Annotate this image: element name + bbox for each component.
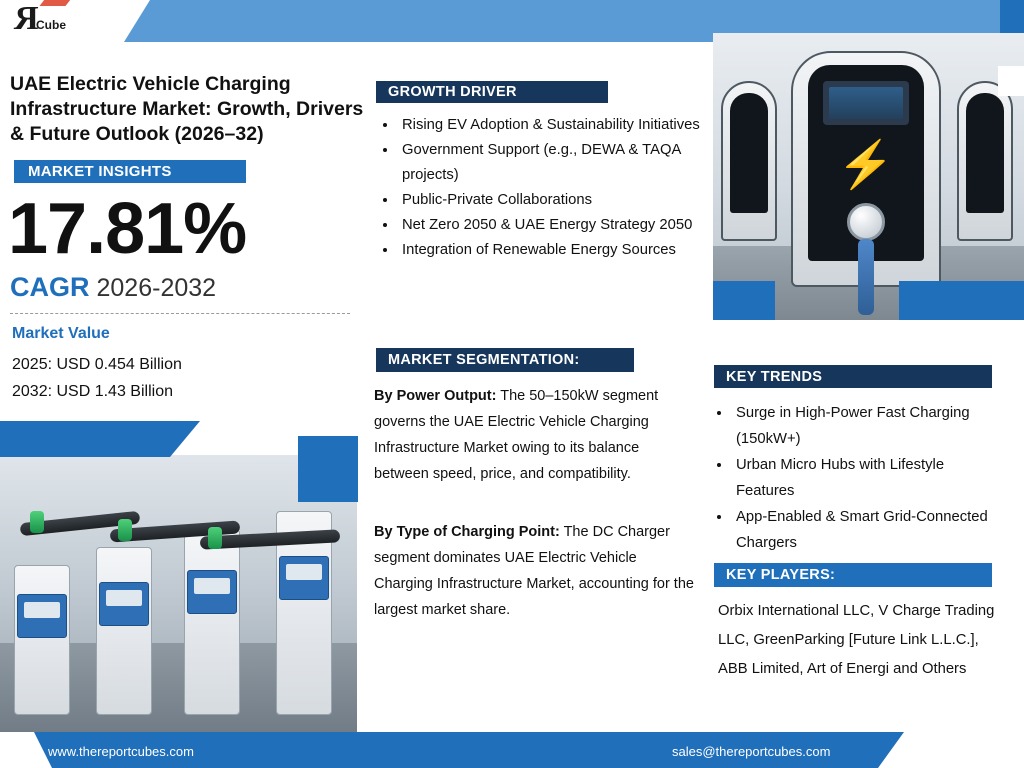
footer-wedge-left xyxy=(0,732,34,768)
market-insights-badge: MARKET INSIGHTS xyxy=(14,160,246,183)
list-item: App-Enabled & Smart Grid-Connected Charg… xyxy=(732,504,1006,556)
cagr-period: 2026-2032 xyxy=(97,274,217,303)
photo-accent-bottom-right xyxy=(298,436,358,502)
logo-wordmark: Cube xyxy=(36,18,66,32)
list-item: Net Zero 2050 & UAE Energy Strategy 2050 xyxy=(398,213,700,238)
market-value-2025: 2025: USD 0.454 Billion xyxy=(12,356,182,374)
list-item: Government Support (e.g., DEWA & TAQA pr… xyxy=(398,138,700,188)
charger-unit-main-icon: ⚡ xyxy=(791,51,941,287)
ev-charging-station-photo: ⚡ xyxy=(713,33,1024,320)
market-value-title: Market Value xyxy=(12,325,110,343)
charger-post-icon xyxy=(184,529,240,715)
footer-website-link[interactable]: www.thereportcubes.com xyxy=(48,744,194,759)
growth-driver-list: Rising EV Adoption & Sustainability Init… xyxy=(380,113,700,263)
photo-accent-bottom-left xyxy=(0,421,170,457)
charger-unit-icon xyxy=(957,81,1013,241)
cagr-value: 17.81% xyxy=(8,190,246,268)
cagr-label-row: CAGR 2026-2032 xyxy=(10,272,216,303)
connector-icon xyxy=(847,203,885,241)
footer-wedge-right xyxy=(904,732,1024,768)
column-divider xyxy=(707,42,710,732)
market-value-2032: 2032: USD 1.43 Billion xyxy=(12,383,173,401)
segmentation-paragraph-power-output: By Power Output: The 50–150kW segment go… xyxy=(374,383,696,487)
lightning-bolt-icon: ⚡ xyxy=(837,141,894,187)
list-item: Integration of Renewable Energy Sources xyxy=(398,238,700,263)
cagr-label: CAGR xyxy=(10,272,90,303)
key-trends-list: Surge in High-Power Fast Charging (150kW… xyxy=(716,400,1006,556)
charger-post-icon xyxy=(14,565,70,715)
charging-cable-icon xyxy=(858,239,874,315)
connector-tip-icon xyxy=(118,519,132,541)
key-players-text: Orbix International LLC, V Charge Tradin… xyxy=(718,597,1002,684)
segmentation-label-power-output: By Power Output: xyxy=(374,388,496,404)
list-item: Public-Private Collaborations xyxy=(398,188,700,213)
page-title: UAE Electric Vehicle Charging Infrastruc… xyxy=(10,72,382,147)
charger-unit-icon xyxy=(721,81,777,241)
key-trends-badge: KEY TRENDS xyxy=(714,365,992,388)
charger-post-icon xyxy=(96,547,152,715)
growth-driver-badge: GROWTH DRIVER xyxy=(376,81,608,103)
segmentation-label-charging-point: By Type of Charging Point: xyxy=(374,524,560,540)
connector-tip-icon xyxy=(208,527,222,549)
photo-accent-left xyxy=(713,281,775,320)
list-item: Surge in High-Power Fast Charging (150kW… xyxy=(732,400,1006,452)
logo-letter-icon: R xyxy=(14,2,39,36)
photo-accent-right xyxy=(899,281,1024,320)
segmentation-paragraph-charging-point: By Type of Charging Point: The DC Charge… xyxy=(374,519,696,623)
list-item: Urban Micro Hubs with Lifestyle Features xyxy=(732,452,1006,504)
key-players-badge: KEY PLAYERS: xyxy=(714,563,992,587)
footer-email-link[interactable]: sales@thereportcubes.com xyxy=(672,744,830,759)
list-item: Rising EV Adoption & Sustainability Init… xyxy=(398,113,700,138)
divider xyxy=(10,313,350,314)
connector-tip-icon xyxy=(30,511,44,533)
market-segmentation-badge: MARKET SEGMENTATION: xyxy=(376,348,634,372)
